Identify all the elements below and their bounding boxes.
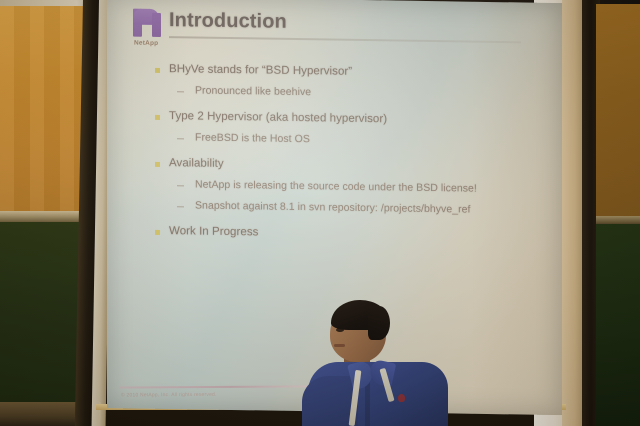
bullet-block: Availability NetApp is releasing the sou… [151,157,542,217]
bullet-text: Availability [169,157,224,170]
square-bullet-icon [155,230,160,235]
right-wall-wood-panel [596,4,640,220]
square-bullet-icon [155,115,160,120]
dash-bullet-icon [177,138,184,139]
sub-bullet-text: NetApp is releasing the source code unde… [195,179,477,195]
sub-bullet-text: FreeBSD is the Host OS [195,132,310,146]
square-bullet-icon [155,162,160,167]
right-wall-chalkboard [596,224,640,426]
sub-bullet-text: Snapshot against 8.1 in svn repository: … [195,200,471,216]
sub-bullet-item: FreeBSD is the Host OS [151,131,542,149]
footer-copyright: © 2010 NetApp, Inc. All rights reserved. [121,392,217,399]
footer-divider [119,385,324,388]
netapp-wordmark: NetApp [134,40,158,47]
presenter [306,300,448,426]
bullet-block: BHyVe stands for “BSD Hypervisor” Pronou… [151,63,542,102]
slide-title: Introduction [169,9,287,34]
dash-bullet-icon [177,91,184,92]
bullet-text: Type 2 Hypervisor (aka hosted hypervisor… [169,110,387,125]
slide-body: BHyVe stands for “BSD Hypervisor” Pronou… [151,49,542,245]
sub-bullet-text: Pronounced like beehive [195,85,311,99]
bullet-item: Type 2 Hypervisor (aka hosted hypervisor… [151,110,542,128]
dash-bullet-icon [177,206,184,207]
title-underline [169,36,521,43]
dash-bullet-icon [177,185,184,186]
bullet-block: Type 2 Hypervisor (aka hosted hypervisor… [151,110,542,149]
presenter-hair-back [368,306,390,340]
presenter-mouth [334,344,345,347]
sub-bullet-item: NetApp is releasing the source code unde… [151,178,542,196]
square-bullet-icon [155,68,160,73]
sub-bullet-item: Pronounced like beehive [151,84,542,102]
netapp-n-mark [133,7,161,37]
sub-bullet-item: Snapshot against 8.1 in svn repository: … [151,199,542,217]
bullet-text: Work In Progress [169,225,258,238]
bullet-item: Work In Progress [151,225,542,243]
bullet-item: BHyVe stands for “BSD Hypervisor” [151,63,542,81]
netapp-logo-icon: NetApp [133,7,167,52]
screenshot-root: NetApp Introduction BHyVe stands for “BS… [0,0,640,426]
bullet-text: BHyVe stands for “BSD Hypervisor” [169,63,352,78]
bullet-block: Work In Progress [151,225,542,243]
presenter-shirt-logo [398,394,405,402]
bullet-item: Availability [151,157,542,175]
presenter-shirt-placket [365,380,370,426]
